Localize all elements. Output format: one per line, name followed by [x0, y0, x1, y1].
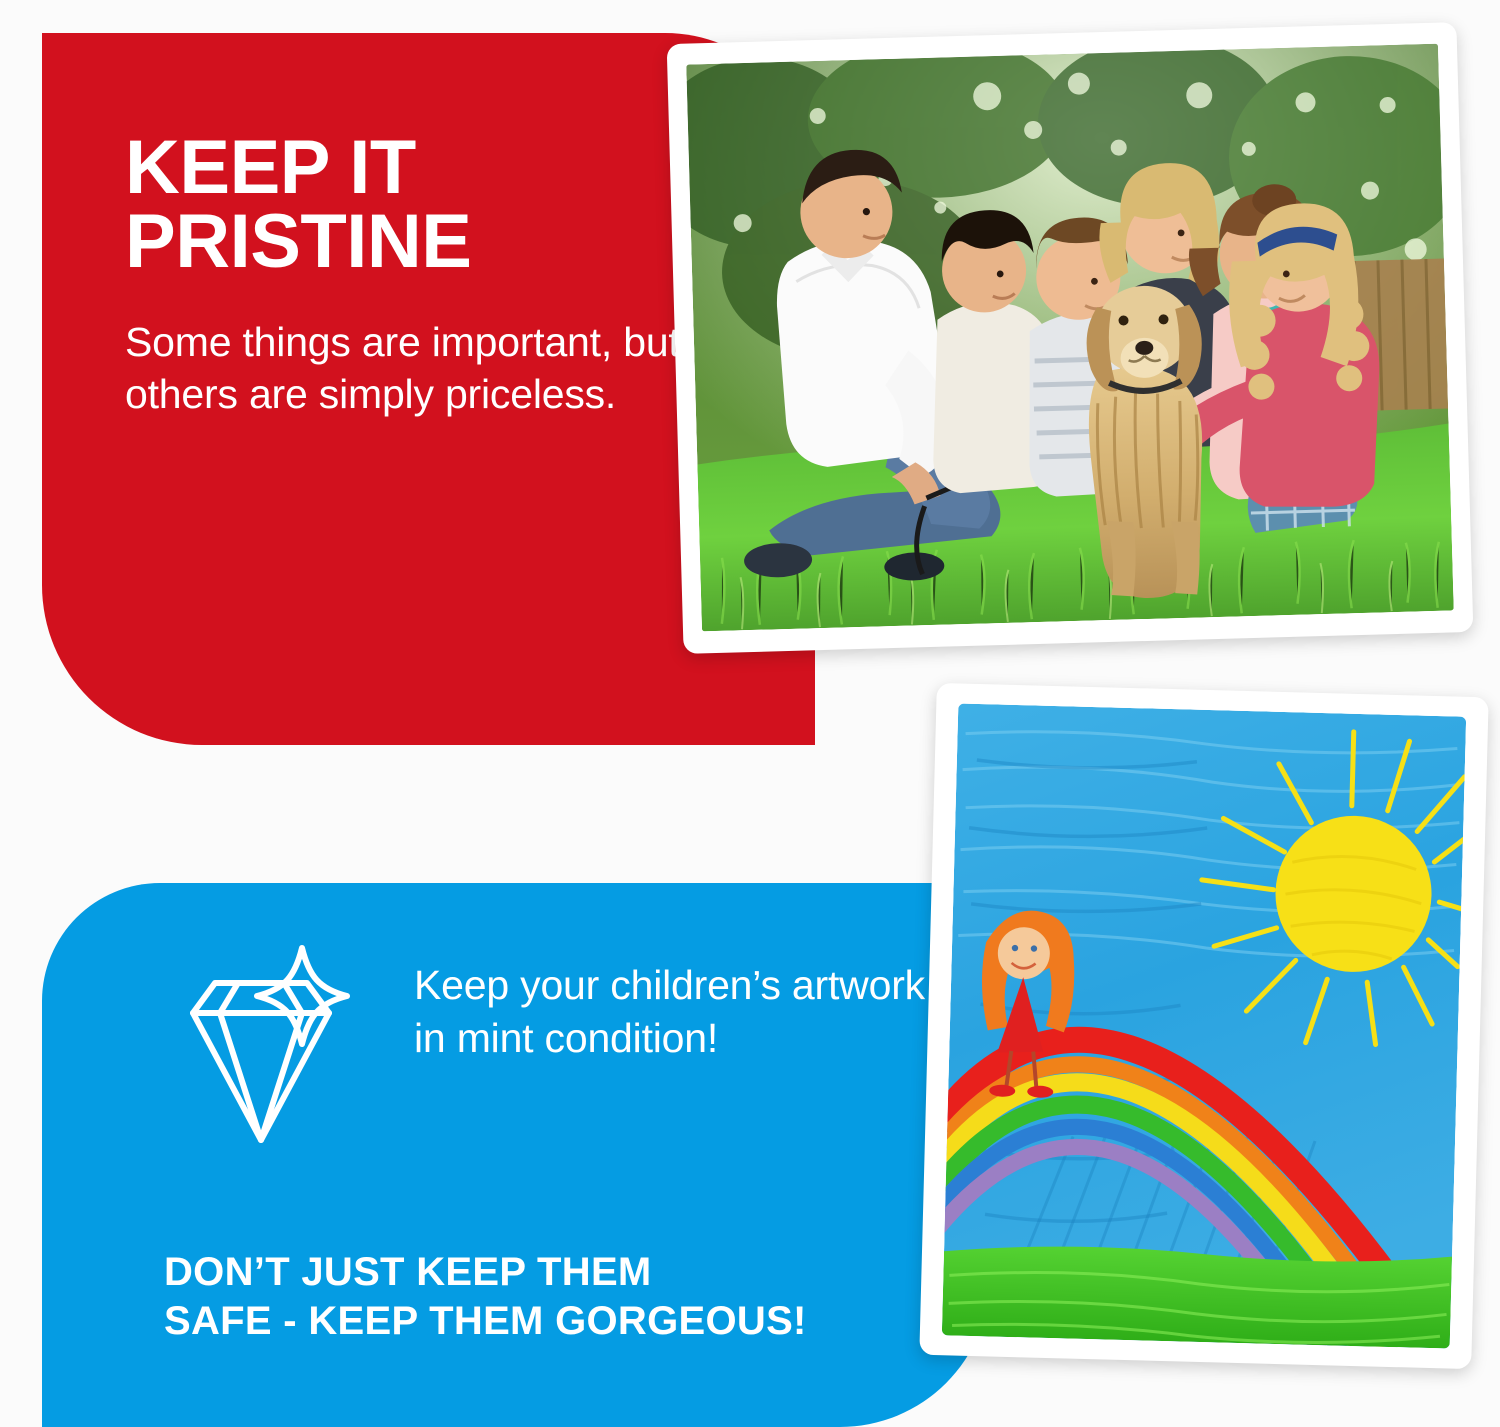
blue-panel-cta-text: DON’T JUST KEEP THEM SAFE - KEEP THEM GO…: [164, 1248, 807, 1346]
child-artwork-image: [942, 703, 1466, 1348]
red-panel-subcopy: Some things are important, but others ar…: [125, 316, 685, 421]
diamond-sparkle-icon: [152, 935, 370, 1171]
blue-panel-body-copy: Keep your children’s artwork in mint con…: [414, 959, 952, 1066]
child-artwork-card: [919, 683, 1488, 1369]
blue-panel-top-row: Keep your children’s artwork in mint con…: [152, 923, 952, 1171]
page-headline: KEEP IT PRISTINE: [125, 131, 685, 280]
blue-feature-panel: Keep your children’s artwork in mint con…: [42, 883, 990, 1427]
red-panel-copy-block: KEEP IT PRISTINE Some things are importa…: [125, 131, 685, 421]
infographic-canvas: KEEP IT PRISTINE Some things are importa…: [0, 0, 1500, 1427]
family-photo-card: [667, 22, 1474, 654]
family-photo-image: [686, 44, 1454, 632]
